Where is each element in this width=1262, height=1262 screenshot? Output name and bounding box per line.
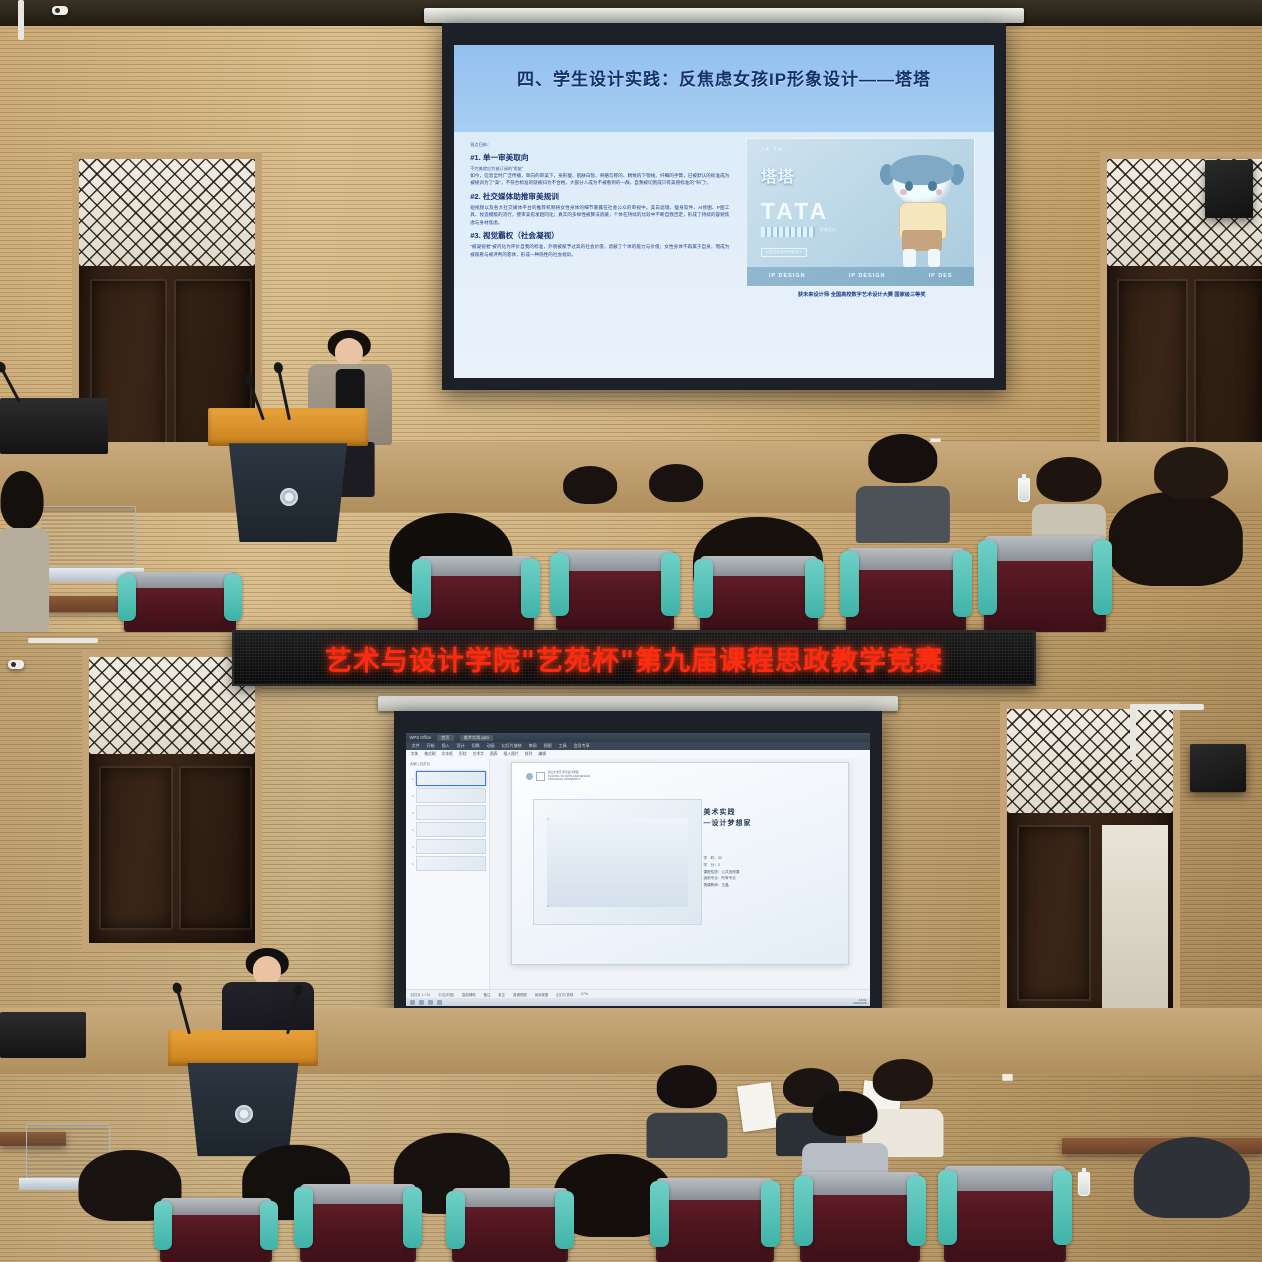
- attendee-body: [647, 1113, 728, 1159]
- transom-grille-icon: [89, 657, 255, 754]
- ribbon-insert-picture[interactable]: 插入图片: [504, 752, 519, 757]
- door-panel: [179, 766, 253, 930]
- transom-grille-icon: [79, 159, 255, 266]
- menu-item-animation[interactable]: 动画: [487, 743, 495, 749]
- seat-headrest: [124, 572, 236, 588]
- attendee: [0, 480, 74, 630]
- slide-count-label: 幻灯片 1 / 24: [411, 992, 431, 997]
- seat-headrest: [556, 550, 674, 571]
- slide-section-text-1: 如今，信息全时广泛传播，单向的审美下，身形瘦、肌肤白皙、骨骼匀称的、精致的下颚线…: [470, 173, 729, 185]
- seat-arm: [521, 559, 540, 618]
- slide-title-line1: 美术实践: [703, 807, 830, 817]
- attendee-body: [856, 486, 950, 543]
- slide-intro: 观点归纳：: [470, 142, 729, 149]
- seat-arm: [953, 551, 972, 617]
- slide-section-heading-3: #3. 视觉霸权（社会凝视）: [470, 230, 729, 242]
- seat-arm: [938, 1170, 958, 1245]
- door-left: [82, 650, 262, 950]
- seat: [800, 1172, 920, 1262]
- security-camera-icon: [52, 6, 68, 15]
- attendee-hair: [813, 1091, 878, 1136]
- poster-image: TA TA 塔塔 TATA 形象设计 反焦虑女孩IP形象设计: [746, 138, 975, 287]
- attendee-hair: [649, 464, 703, 501]
- seat-arm: [550, 553, 569, 615]
- screen-top-bar: [424, 8, 1024, 23]
- school-seal-icon: [526, 773, 533, 780]
- menu-item-review[interactable]: 审阅: [529, 743, 537, 749]
- seat-arm: [661, 553, 680, 615]
- mascot-hair: [890, 155, 955, 185]
- poster-brand-tag: TA TA: [761, 147, 784, 153]
- poster-footer-item: IP DESIGN: [769, 273, 806, 279]
- poster-footer-item: IP DES: [929, 273, 953, 279]
- door-right-open: [1000, 702, 1180, 1022]
- screen-surface: 四、学生设计实践：反焦虑女孩IP形象设计——塔塔 观点归纳： #1. 单一审美取…: [442, 23, 1006, 390]
- ribbon-format-painter[interactable]: 格式刷: [424, 752, 435, 757]
- navigator-header: 大纲 | 幻灯片: [408, 762, 487, 769]
- seat-arm: [907, 1176, 926, 1246]
- camera-bracket: [28, 638, 98, 643]
- top-photo: 四、学生设计实践：反焦虑女孩IP形象设计——塔塔 观点归纳： #1. 单一审美取…: [0, 0, 1262, 632]
- taskbar-icon[interactable]: [410, 1000, 415, 1005]
- screen-top-bar: [378, 696, 898, 711]
- slide-thumbnail[interactable]: 5: [409, 839, 486, 854]
- wps-app-name: WPS Office: [410, 735, 432, 740]
- ribbon-edit[interactable]: 编辑: [538, 752, 546, 757]
- podium-front-panel: [221, 443, 355, 542]
- water-bottle: [1078, 1172, 1090, 1196]
- view-reading-button[interactable]: 阅读视图: [535, 992, 549, 997]
- attendee-body: [0, 528, 50, 632]
- poster-title-sub: 形象设计: [820, 227, 836, 233]
- seat-headrest: [800, 1172, 920, 1195]
- slide-meta-block: 学 时：32 学 分：2 课程性质：公共选修课 适用专业：所有专业 授课教师：王…: [703, 855, 830, 888]
- mascot-leg: [903, 249, 915, 268]
- wps-statusbar: 幻灯片 1 / 24 中文(中国) 智能辅助 备注 批注 普通视图 阅读视图 幻…: [406, 989, 871, 998]
- slide-section-text-3: "被凝视者"被内化为评价自我的标准，外貌被赋予过高的社会价值，遮蔽了个体的能力与…: [470, 244, 729, 256]
- language-indicator[interactable]: 中文(中国): [438, 992, 454, 997]
- attendee-hair: [1, 471, 44, 529]
- comments-button[interactable]: 批注: [498, 992, 505, 997]
- seat: [556, 550, 674, 630]
- seat-arm: [412, 559, 431, 618]
- taskbar-clock[interactable]: 14:01 2025/4/28: [853, 999, 866, 1006]
- taskbar-icon[interactable]: [419, 1000, 424, 1005]
- view-normal-button[interactable]: 普通视图: [513, 992, 527, 997]
- door-panel: [1194, 279, 1262, 460]
- av-equipment-rack: [0, 398, 108, 454]
- attendee-hair: [873, 1059, 933, 1101]
- menu-item-transition[interactable]: 切换: [472, 743, 480, 749]
- podium-front-panel: [180, 1063, 306, 1156]
- seat: [160, 1198, 272, 1262]
- attendee: [652, 468, 700, 532]
- cap-icon: [1134, 1137, 1250, 1218]
- attendee-hair: [868, 434, 937, 482]
- meta-majors: 适用专业：所有专业: [703, 875, 830, 882]
- seat-arm: [403, 1187, 422, 1248]
- wall-speaker-icon: [1190, 744, 1246, 792]
- judging-sheet: [737, 1082, 777, 1132]
- seat-headrest: [160, 1198, 272, 1215]
- menu-item-home[interactable]: 开始: [427, 743, 435, 749]
- slide-section-text-2: 短视频以及各大社交媒体平台的推荐机制将女性身体的细节暴露在社会公众的审视中。美白…: [470, 205, 729, 224]
- bottom-photo: WPS Office 首页 美术实践.pptx 文件 开始 插入 设计 切换 动…: [0, 632, 1262, 1262]
- menu-item-tools[interactable]: 工具: [559, 743, 567, 749]
- attendee-with-cap: [1140, 1144, 1244, 1262]
- smart-assist-button[interactable]: 智能辅助: [462, 992, 476, 997]
- screen-surface: WPS Office 首页 美术实践.pptx 文件 开始 插入 设计 切换 动…: [394, 711, 883, 1018]
- os-taskbar: 14:01 2025/4/28: [406, 998, 871, 1006]
- seat: [418, 556, 534, 632]
- ribbon-wordart[interactable]: 艺术字: [473, 752, 484, 757]
- wps-menubar: 文件 开始 插入 设计 切换 动画 幻灯片放映 审阅 视图 工具 会员专享: [406, 742, 871, 750]
- school-mark-icon: [536, 772, 545, 781]
- speaker-bracket: [1130, 704, 1204, 710]
- seat-headrest: [700, 556, 818, 576]
- seat-arm: [1093, 540, 1113, 615]
- seat-arm: [224, 574, 242, 621]
- podium-desktop: [168, 1030, 318, 1066]
- ribbon-chart[interactable]: 图表: [490, 752, 498, 757]
- seat-arm: [294, 1187, 313, 1248]
- seat-headrest: [418, 556, 534, 576]
- notes-button[interactable]: 备注: [484, 992, 491, 997]
- taskbar-icon[interactable]: [428, 1000, 433, 1005]
- led-banner: 艺术与设计学院"艺苑杯"第九届课程思政教学竞赛: [232, 630, 1036, 686]
- mascot-pants: [902, 230, 942, 251]
- wps-workspace: 大纲 | 幻灯片 1 2 3 4 5 6: [406, 759, 871, 990]
- camera-bracket: [18, 0, 24, 40]
- seat-arm: [260, 1201, 278, 1251]
- attendee: [1040, 462, 1098, 542]
- wps-window: WPS Office 首页 美术实践.pptx 文件 开始 插入 设计 切换 动…: [406, 733, 871, 1006]
- wps-tab-document[interactable]: 美术实践.pptx: [460, 735, 494, 741]
- mascot-character-icon: [883, 152, 960, 269]
- slide-section-note-1: 不完美就应为被订阅的"瑕疵": [470, 166, 729, 173]
- slide-section-heading-1: #1. 单一审美取向: [470, 152, 729, 164]
- university-emblem-icon: [235, 1105, 253, 1123]
- poster-color-swatch: [761, 227, 815, 237]
- slideshow-button[interactable]: 幻灯片放映: [556, 992, 573, 997]
- av-equipment-rack: [0, 1012, 86, 1058]
- ribbon-shape[interactable]: 形状: [459, 752, 467, 757]
- seat-arm: [446, 1191, 465, 1249]
- menu-item-design[interactable]: 设计: [457, 743, 465, 749]
- slide-canvas-top: 四、学生设计实践：反焦虑女孩IP形象设计——塔塔 观点归纳： #1. 单一审美取…: [454, 45, 994, 378]
- seat-arm: [694, 559, 713, 618]
- attendee: [872, 440, 934, 532]
- slide-navigator-panel[interactable]: 大纲 | 幻灯片 1 2 3 4 5 6: [406, 759, 490, 990]
- menu-item-file[interactable]: 文件: [412, 743, 420, 749]
- seat: [124, 572, 236, 632]
- slide-title: 四、学生设计实践：反焦虑女孩IP形象设计——塔塔: [454, 65, 994, 90]
- attendee: [1158, 452, 1224, 530]
- ribbon-arrange[interactable]: 排列: [525, 752, 533, 757]
- wall-speaker-icon: [1205, 160, 1253, 218]
- meta-teacher: 授课教师：王晶: [703, 882, 830, 889]
- wps-tab-home[interactable]: 首页: [437, 735, 453, 741]
- slide-thumbnail[interactable]: 2: [409, 788, 486, 803]
- university-name-en: TANGSHAN UNIVERSITY: [548, 777, 581, 781]
- meta-course-type: 课程性质：公共选修课: [703, 869, 830, 876]
- seat: [944, 1166, 1066, 1262]
- seat-arm: [794, 1176, 813, 1246]
- water-bottle: [1018, 478, 1030, 502]
- attendee-hair: [1154, 447, 1228, 498]
- slide-thumbnail[interactable]: 4: [409, 822, 486, 837]
- slide-title-line2: —设计梦想家: [703, 818, 830, 828]
- mascot-cheek: [900, 189, 906, 195]
- school-logo-text: 唐山大学艺术与设计学院 SCHOOL OF ARTS AND DESIGN TA…: [548, 771, 590, 781]
- slide-thumbnail[interactable]: 6: [409, 856, 486, 871]
- seat-headrest: [300, 1184, 416, 1204]
- door-open-slab: [1102, 825, 1168, 1009]
- meta-credits: 学 分：2: [703, 862, 830, 869]
- seat: [700, 556, 818, 632]
- seat: [656, 1178, 774, 1262]
- door-panel: [99, 766, 173, 930]
- menu-item-insert[interactable]: 插入: [442, 743, 450, 749]
- ribbon-font[interactable]: 字体: [411, 752, 419, 757]
- attendee: [816, 1096, 874, 1180]
- projection-screen: 四、学生设计实践：反焦虑女孩IP形象设计——塔塔 观点归纳： #1. 单一审美取…: [424, 8, 1024, 390]
- menu-item-member[interactable]: 会员专享: [574, 743, 590, 749]
- attendee: [566, 470, 614, 534]
- seat-headrest: [846, 548, 966, 570]
- slide-canvas-bottom: 唐山大学艺术与设计学院 SCHOOL OF ARTS AND DESIGN TA…: [511, 762, 848, 965]
- slide-body-text: 观点归纳： #1. 单一审美取向 不完美就应为被订阅的"瑕疵" 如今，信息全时广…: [470, 142, 729, 365]
- menu-item-slideshow[interactable]: 幻灯片放映: [502, 743, 522, 749]
- security-camera-icon: [8, 660, 24, 669]
- seat-arm: [978, 540, 998, 615]
- seat-arm: [650, 1181, 669, 1247]
- seat: [984, 536, 1106, 632]
- mascot-leg: [928, 249, 940, 268]
- seat-arm: [805, 559, 824, 618]
- school-logo: 唐山大学艺术与设计学院 SCHOOL OF ARTS AND DESIGN TA…: [526, 771, 590, 781]
- attendee-hair: [1037, 457, 1102, 502]
- poster-chip-label: 反焦虑女孩IP形象设计: [761, 248, 807, 257]
- seat-arm: [555, 1191, 574, 1249]
- seat: [452, 1188, 568, 1262]
- seat-headrest: [944, 1166, 1066, 1191]
- seat-arm: [761, 1181, 780, 1247]
- menu-item-view[interactable]: 视图: [544, 743, 552, 749]
- seat: [300, 1184, 416, 1262]
- seat-arm: [1053, 1170, 1073, 1245]
- presenter-head: [335, 338, 363, 366]
- taskbar-icon[interactable]: [437, 1000, 442, 1005]
- meta-hours: 学 时：32: [703, 855, 830, 862]
- attendee-hair: [657, 1065, 717, 1107]
- door-panel: [1017, 825, 1091, 1000]
- attendee: [660, 1070, 714, 1146]
- door-panel: [1117, 279, 1189, 460]
- poster-footer-bar: IP DESIGN IP DESIGN IP DES: [747, 267, 974, 286]
- clock-date: 2025/4/28: [853, 1001, 866, 1005]
- photo-collage: 四、学生设计实践：反焦虑女孩IP形象设计——塔塔 观点归纳： #1. 单一审美取…: [0, 0, 1262, 1262]
- seat-headrest: [984, 536, 1106, 561]
- mascot-eye: [928, 181, 936, 192]
- slide-edit-canvas[interactable]: 唐山大学艺术与设计学院 SCHOOL OF ARTS AND DESIGN TA…: [490, 759, 871, 990]
- seat: [846, 548, 966, 632]
- attendee-hair: [563, 466, 617, 503]
- poster-footer-item: IP DESIGN: [849, 273, 886, 279]
- slide-illustration: [533, 799, 703, 925]
- zoom-level-label[interactable]: 67%: [581, 992, 588, 996]
- mascot-cheek: [936, 189, 942, 195]
- led-banner-text: 艺术与设计学院"艺苑杯"第九届课程思政教学竞赛: [325, 639, 943, 678]
- presenter-head: [253, 956, 281, 984]
- slide-section-heading-2: #2. 社交媒体助推审美规训: [470, 191, 729, 203]
- attendee: [876, 1064, 930, 1144]
- seat-headrest: [452, 1188, 568, 1207]
- seat-headrest: [656, 1178, 774, 1200]
- slide-thumbnail[interactable]: 1: [409, 771, 486, 786]
- transom-grille-icon: [1007, 709, 1173, 813]
- ribbon-textbox[interactable]: 文本框: [442, 752, 453, 757]
- seat-arm: [154, 1201, 172, 1251]
- projection-screen: WPS Office 首页 美术实践.pptx 文件 开始 插入 设计 切换 动…: [378, 696, 898, 1018]
- university-emblem-icon: [280, 488, 298, 506]
- poster-award-caption: 获未来设计师·全国高校数字艺术设计大赛 国家级三等奖: [748, 291, 975, 298]
- seat-arm: [840, 551, 859, 617]
- slide-title-block: 美术实践 —设计梦想家: [703, 807, 830, 828]
- podium-top: [208, 408, 368, 568]
- wps-titlebar: WPS Office 首页 美术实践.pptx: [406, 733, 871, 742]
- poster-title-en: TATA: [761, 198, 829, 225]
- slide-thumbnail[interactable]: 3: [409, 805, 486, 820]
- speaker-bracket: [1130, 704, 1136, 760]
- seat-arm: [118, 574, 136, 621]
- poster-title-cn: 塔塔: [761, 163, 795, 187]
